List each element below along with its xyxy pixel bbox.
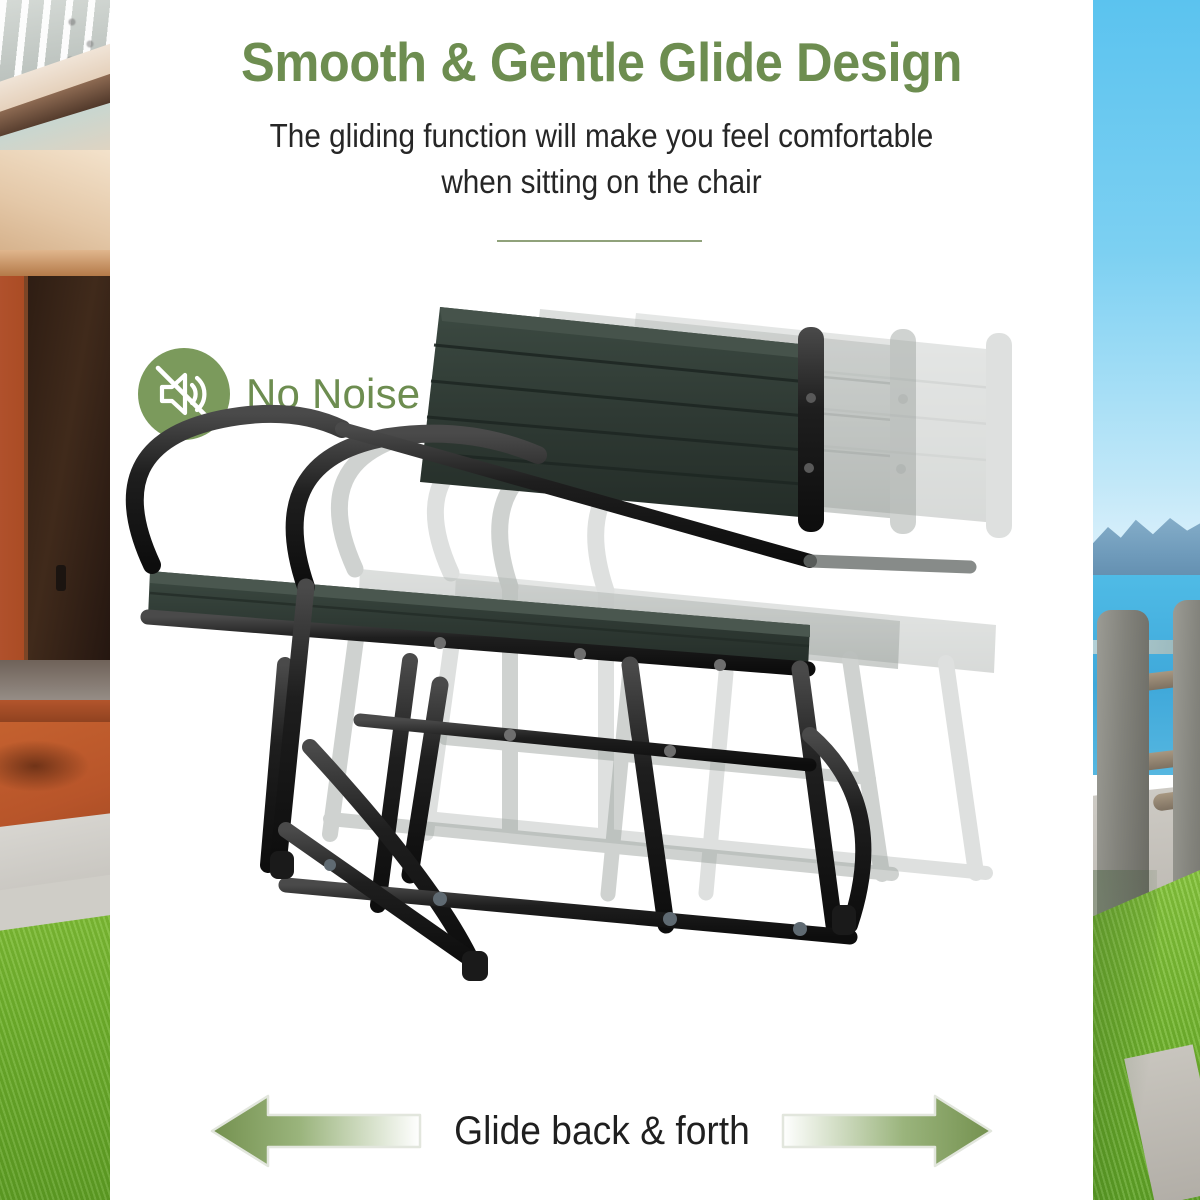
ghost-arm-extension — [810, 561, 970, 567]
house-porch-photo — [0, 0, 110, 1200]
glide-caption: Glide back & forth — [454, 1109, 750, 1154]
grass-shadow — [1093, 870, 1157, 1200]
page-title: Smooth & Gentle Glide Design — [149, 30, 1053, 94]
patio-shadow — [0, 740, 90, 792]
door-trim — [0, 250, 110, 276]
glider-bench-svg — [110, 265, 1093, 1065]
content-panel: Smooth & Gentle Glide Design The gliding… — [110, 0, 1093, 1200]
dark-door — [28, 276, 110, 668]
lakeside-photo — [1093, 0, 1200, 1200]
product-feature-image: Smooth & Gentle Glide Design The gliding… — [0, 0, 1200, 1200]
subtitle-line-2: when sitting on the chair — [159, 159, 1044, 205]
glider-bench-illustration — [110, 265, 1093, 1065]
subtitle-line-1: The gliding function will make you feel … — [159, 113, 1044, 159]
front-leg-outer — [800, 669, 834, 925]
backrest-post — [798, 327, 824, 532]
arrow-right-icon — [780, 1090, 995, 1172]
glide-direction-row: Glide back & forth — [110, 1083, 1093, 1179]
blue-sky — [1093, 0, 1200, 560]
front-leg-inner — [630, 665, 666, 925]
page-subtitle: The gliding function will make you feel … — [159, 113, 1044, 205]
header-divider — [497, 240, 702, 242]
green-grass-left — [0, 900, 110, 1200]
arrow-left-icon — [208, 1090, 423, 1172]
door-handle — [56, 565, 66, 591]
